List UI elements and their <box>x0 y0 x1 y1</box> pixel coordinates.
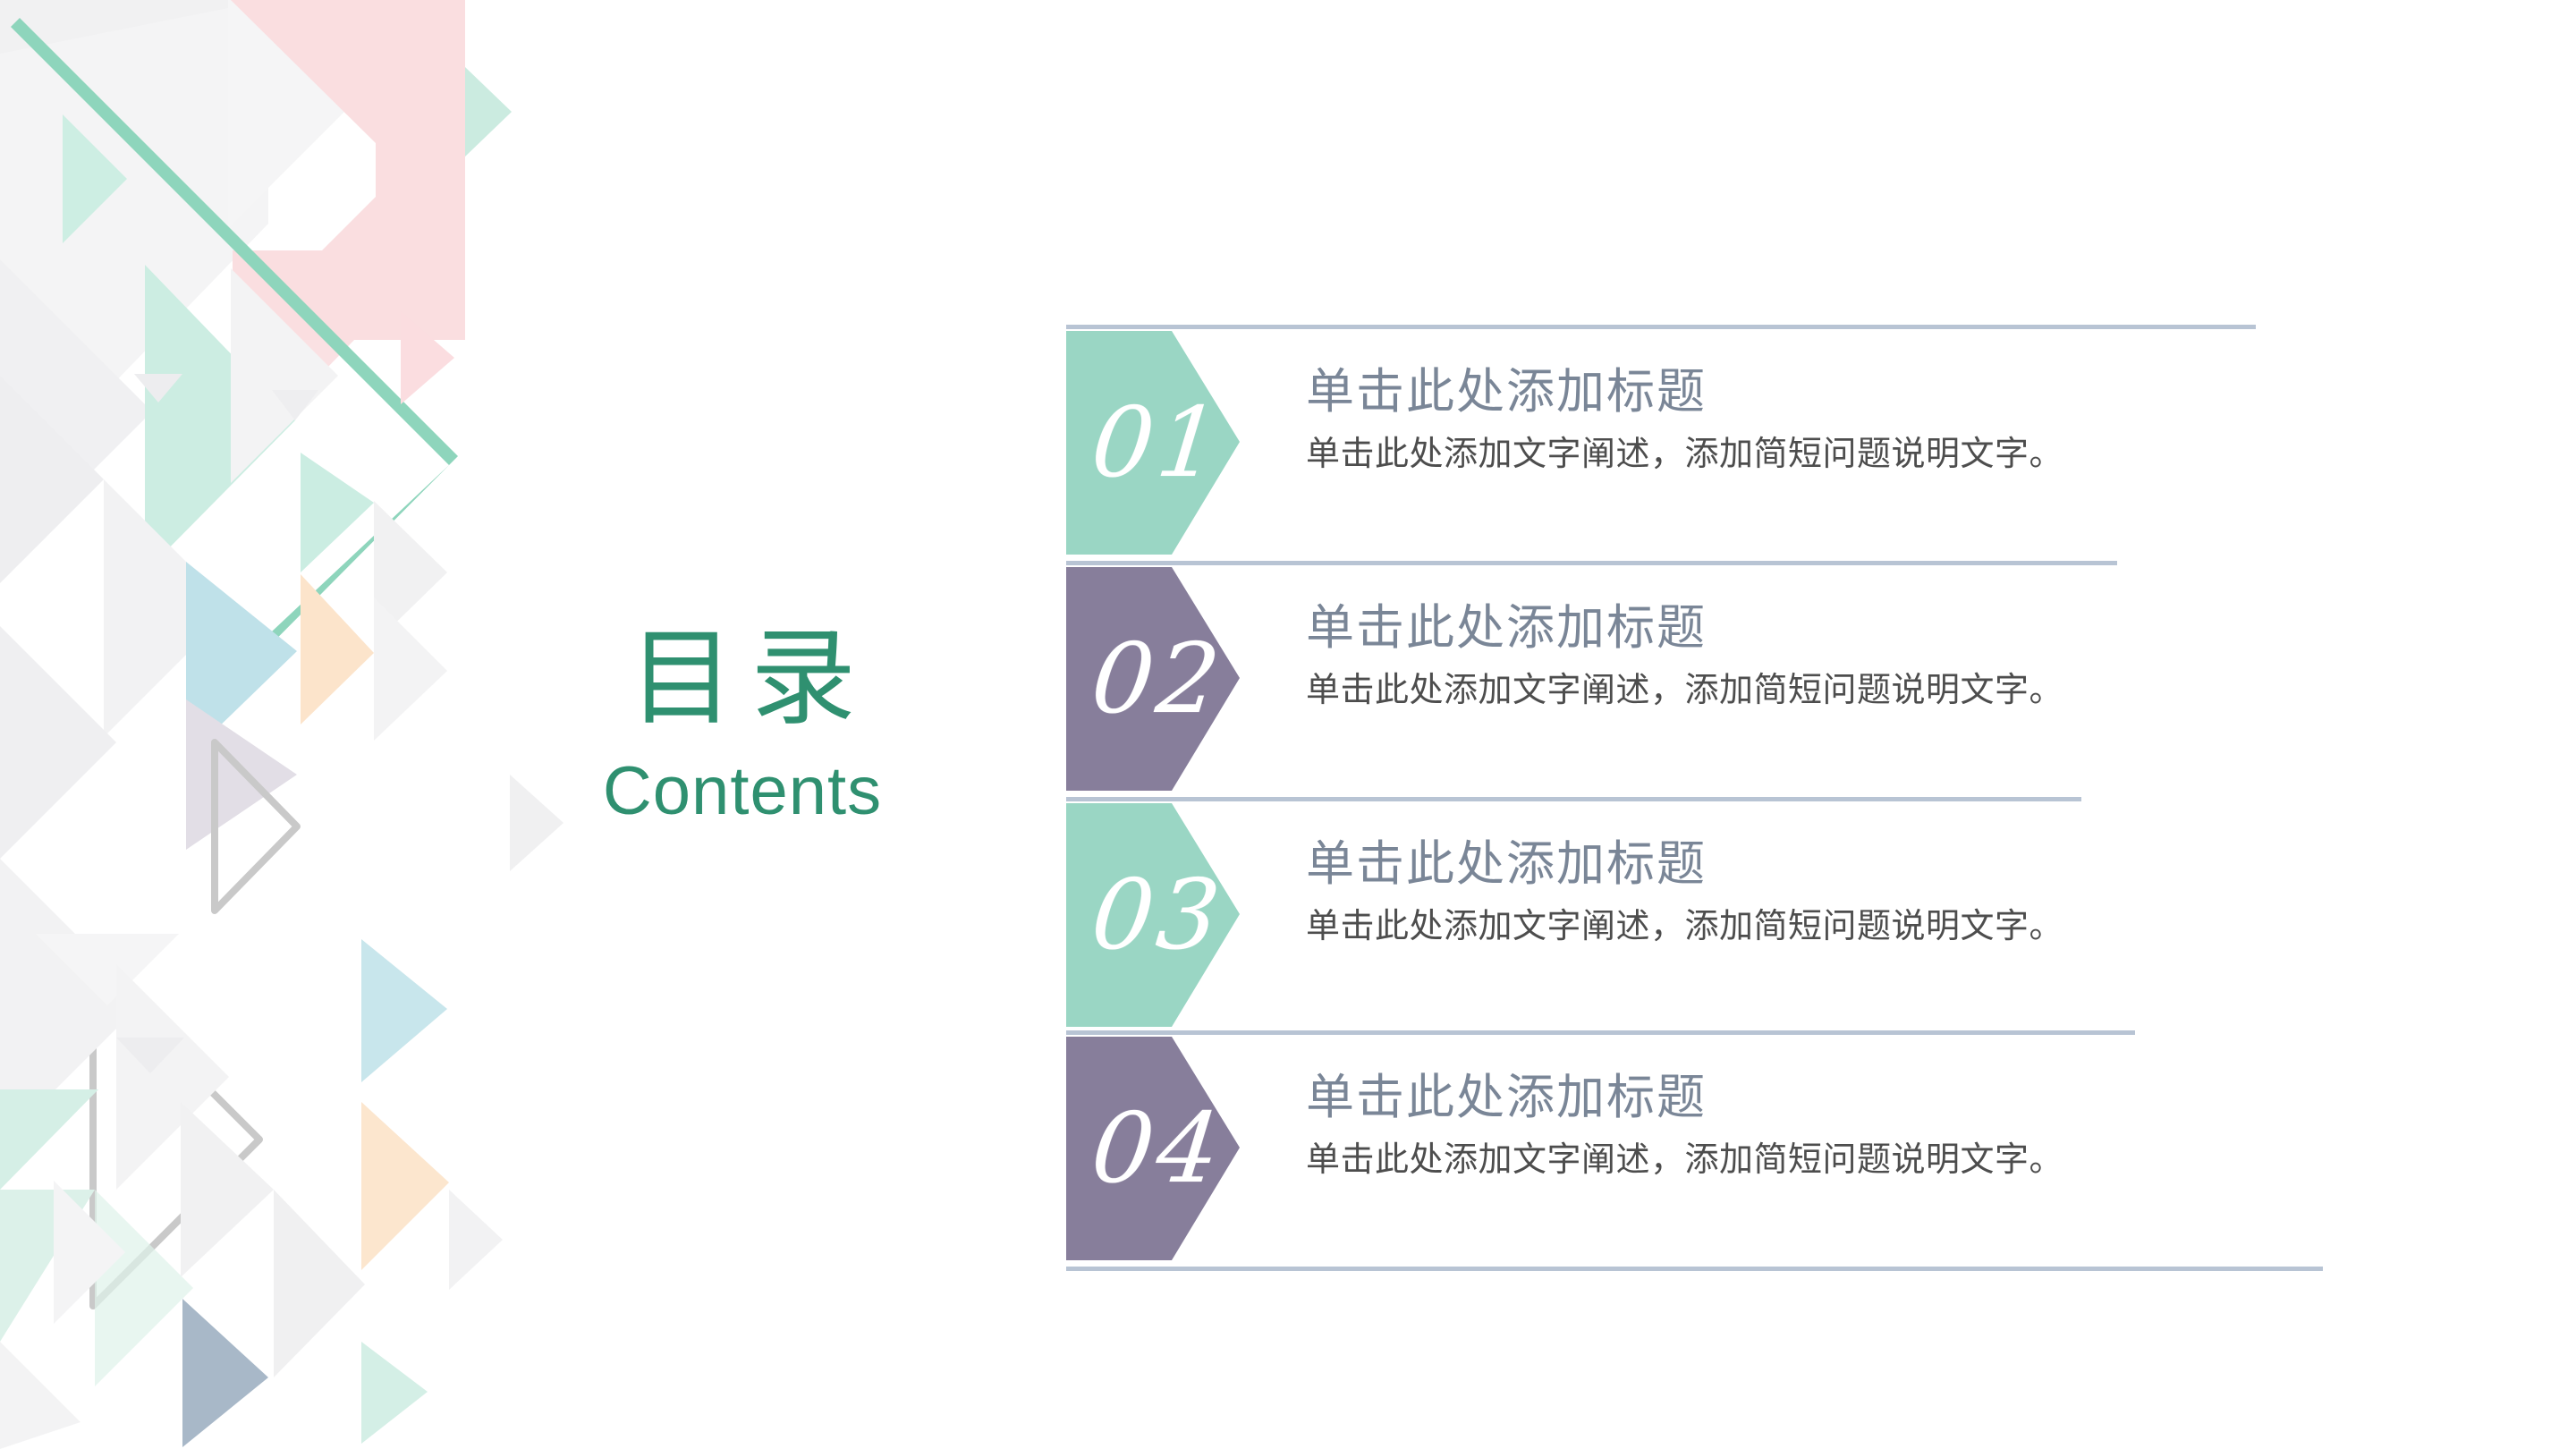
contents-item-01[interactable]: 01单击此处添加标题单击此处添加文字阐述，添加简短问题说明文字。 <box>1066 331 2318 555</box>
item-title[interactable]: 单击此处添加标题 <box>1306 832 2308 897</box>
item-number-badge: 01 <box>1066 331 1254 555</box>
divider-3-4 <box>1066 1030 2135 1035</box>
item-number-badge: 03 <box>1066 803 1254 1027</box>
item-number-badge: 02 <box>1066 567 1254 791</box>
item-number-label: 02 <box>1055 567 1248 791</box>
item-text-block: 单击此处添加标题单击此处添加文字阐述，添加简短问题说明文字。 <box>1306 1065 2308 1185</box>
item-title[interactable]: 单击此处添加标题 <box>1306 596 2308 661</box>
item-text-block: 单击此处添加标题单击此处添加文字阐述，添加简短问题说明文字。 <box>1306 596 2308 716</box>
item-number-label: 01 <box>1055 331 1248 555</box>
divider-top <box>1066 325 2256 329</box>
contents-item-02[interactable]: 02单击此处添加标题单击此处添加文字阐述，添加简短问题说明文字。 <box>1066 567 2318 791</box>
contents-list: 01单击此处添加标题单击此处添加文字阐述，添加简短问题说明文字。02单击此处添加… <box>0 0 2576 1449</box>
item-description[interactable]: 单击此处添加文字阐述，添加简短问题说明文字。 <box>1306 1136 2308 1185</box>
item-text-block: 单击此处添加标题单击此处添加文字阐述，添加简短问题说明文字。 <box>1306 360 2308 479</box>
slide-canvas: 目录 Contents 01单击此处添加标题单击此处添加文字阐述，添加简短问题说… <box>0 0 2576 1449</box>
item-number-badge: 04 <box>1066 1037 1254 1260</box>
contents-item-04[interactable]: 04单击此处添加标题单击此处添加文字阐述，添加简短问题说明文字。 <box>1066 1037 2318 1260</box>
divider-1-2 <box>1066 561 2117 565</box>
item-title[interactable]: 单击此处添加标题 <box>1306 360 2308 425</box>
divider-2-3 <box>1066 797 2081 801</box>
contents-item-03[interactable]: 03单击此处添加标题单击此处添加文字阐述，添加简短问题说明文字。 <box>1066 803 2318 1027</box>
item-description[interactable]: 单击此处添加文字阐述，添加简短问题说明文字。 <box>1306 902 2308 952</box>
item-description[interactable]: 单击此处添加文字阐述，添加简短问题说明文字。 <box>1306 666 2308 716</box>
item-title[interactable]: 单击此处添加标题 <box>1306 1065 2308 1131</box>
item-description[interactable]: 单击此处添加文字阐述，添加简短问题说明文字。 <box>1306 430 2308 479</box>
item-number-label: 04 <box>1055 1037 1248 1260</box>
item-number-label: 03 <box>1055 803 1248 1027</box>
divider-bottom <box>1066 1267 2323 1271</box>
item-text-block: 单击此处添加标题单击此处添加文字阐述，添加简短问题说明文字。 <box>1306 832 2308 952</box>
